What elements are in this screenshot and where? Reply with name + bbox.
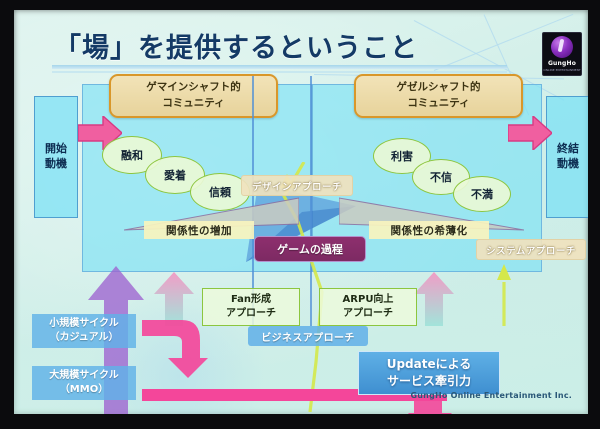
arpu-approach-line-2: アプローチ <box>343 307 393 322</box>
logo-subwordmark: ONLINE ENTERTAINMENT <box>543 68 580 72</box>
community-gesellschaft-line-2: コミュニティ <box>407 96 469 112</box>
arpu-cycle-arrow-icon <box>414 272 454 330</box>
start-motive-line-2: 動機 <box>45 157 67 170</box>
approach-system-label: システムアプローチ <box>476 239 586 260</box>
fan-approach-line-1: Fan形成 <box>231 293 271 308</box>
copyright-credit: GungHo Online Entertainment Inc. <box>411 391 572 400</box>
approach-design-label: デザインアプローチ <box>241 175 353 196</box>
community-gesellschaft-line-1: ゲゼルシャフト的 <box>397 80 481 96</box>
community-gesellschaft-box: ゲゼルシャフト的 コミュニティ <box>354 74 523 118</box>
game-process-box: ゲームの過程 <box>254 236 366 262</box>
gungho-logo: GungHo ONLINE ENTERTAINMENT <box>542 32 582 76</box>
arrow-right-exit-icon <box>508 116 552 150</box>
update-service-line-1: Updateによる <box>387 356 472 373</box>
update-service-line-2: サービス牽引力 <box>387 373 471 390</box>
end-motive-line-1: 終結 <box>557 142 579 155</box>
arpu-approach-line-1: ARPU向上 <box>343 293 394 308</box>
update-service-box: Updateによる サービス牽引力 <box>358 351 500 395</box>
cycle-small-box: 小規模サイクル （カジュアル） <box>32 314 136 348</box>
diagram-canvas: 開始 動機 終結 動機 <box>14 76 588 414</box>
yellow-green-flow-line-right <box>484 256 524 330</box>
start-motive-box: 開始 動機 <box>34 96 78 218</box>
title-rule <box>52 65 507 69</box>
title-rule-secondary <box>52 71 507 73</box>
cycle-large-box: 大規模サイクル （MMO） <box>32 366 136 400</box>
relation-dilution-label: 関係性の希薄化 <box>369 221 489 239</box>
presentation-slide: 「場」を提供するということ GungHo ONLINE ENTERTAINMEN… <box>14 10 588 414</box>
slide-frame: 「場」を提供するということ GungHo ONLINE ENTERTAINMEN… <box>0 0 600 429</box>
logo-wordmark: GungHo <box>548 60 576 67</box>
gungho-orb-icon <box>551 36 573 58</box>
relation-increase-label: 関係性の増加 <box>144 221 254 239</box>
community-gemeinschaft-line-2: コミュニティ <box>162 96 224 112</box>
business-approach-label: ビジネスアプローチ <box>248 326 368 346</box>
cycle-small-line-1: 小規模サイクル <box>49 317 119 331</box>
community-gemeinschaft-line-1: ゲマインシャフト的 <box>146 80 241 96</box>
arpu-approach-box: ARPU向上 アプローチ <box>319 288 417 326</box>
end-motive-line-2: 動機 <box>557 157 579 170</box>
cycle-large-line-2: （MMO） <box>60 383 108 397</box>
end-motive-box: 終結 動機 <box>546 96 588 218</box>
start-motive-line-1: 開始 <box>45 142 67 155</box>
fan-approach-box: Fan形成 アプローチ <box>202 288 300 326</box>
fan-approach-line-2: アプローチ <box>226 307 276 322</box>
page-title: 「場」を提供するということ <box>54 26 514 65</box>
cycle-large-line-1: 大規模サイクル <box>49 369 119 383</box>
loop-arrow-icon <box>138 314 208 384</box>
cycle-small-line-2: （カジュアル） <box>50 331 119 345</box>
